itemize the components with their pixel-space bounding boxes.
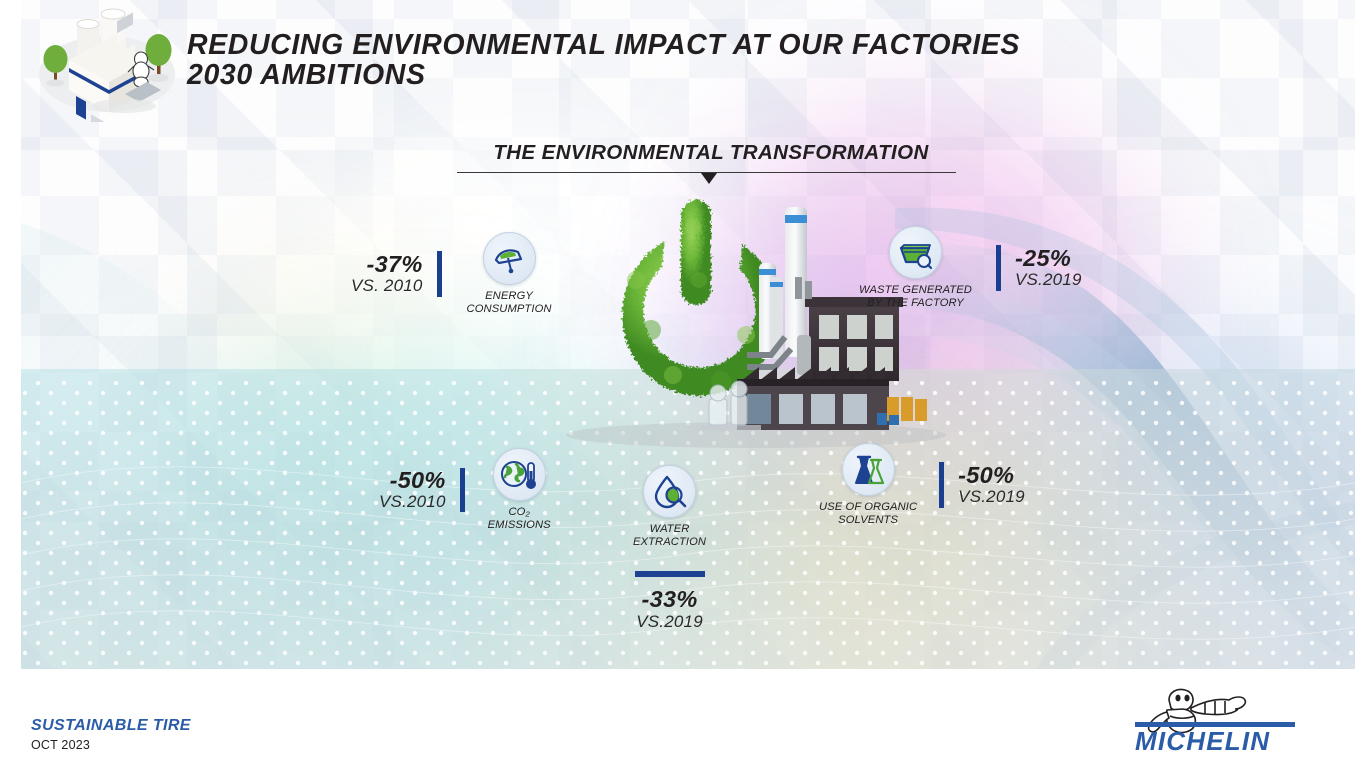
stat-value-group: -33% VS.2019 bbox=[633, 587, 706, 632]
stat-baseline: VS.2019 bbox=[958, 487, 1025, 507]
triangle-down-icon bbox=[701, 173, 717, 184]
globe-thermometer-icon bbox=[493, 448, 546, 501]
stat-label: ENERGY CONSUMPTION bbox=[467, 290, 552, 316]
gauge-speedometer-icon bbox=[483, 232, 536, 285]
stat-divider bbox=[437, 251, 442, 297]
water-droplet-magnifier-icon bbox=[643, 465, 696, 518]
stat-baseline: VS.2019 bbox=[633, 612, 706, 632]
stat-value: -37% bbox=[351, 252, 423, 277]
stat-label: CO₂ EMISSIONS bbox=[488, 506, 551, 532]
michelin-wordmark: MICHELIN bbox=[1135, 726, 1270, 754]
stat-value-group: -50% VS.2019 bbox=[958, 463, 1025, 508]
stat-co2-emissions: -50% VS.2010 CO₂ EMISSIONS bbox=[379, 448, 551, 532]
page-title: REDUCING ENVIRONMENTAL IMPACT AT OUR FAC… bbox=[187, 30, 1237, 91]
stat-value: -50% bbox=[958, 463, 1025, 488]
stat-value: -25% bbox=[1015, 246, 1082, 271]
hero-illustration bbox=[541, 185, 961, 450]
stat-energy-consumption: -37% VS. 2010 ENERGY CONSUMPTION bbox=[351, 232, 552, 316]
footer-title: SUSTAINABLE TIRE bbox=[31, 717, 191, 735]
stat-divider bbox=[939, 462, 944, 508]
section-subtitle: THE ENVIRONMENTAL TRANSFORMATION bbox=[441, 141, 981, 165]
lab-flasks-icon bbox=[842, 443, 895, 496]
stat-value-group: -37% VS. 2010 bbox=[351, 252, 423, 297]
stat-label: WATER EXTRACTION bbox=[633, 523, 706, 549]
stat-label: WASTE GENERATED BY THE FACTORY bbox=[859, 284, 972, 310]
michelin-logo: MICHELIN bbox=[1125, 682, 1305, 754]
stat-divider bbox=[635, 571, 705, 577]
stat-label: USE OF ORGANIC SOLVENTS bbox=[819, 501, 917, 527]
slide-root: REDUCING ENVIRONMENTAL IMPACT AT OUR FAC… bbox=[0, 0, 1367, 768]
waste-skip-container-icon bbox=[889, 226, 942, 279]
factory-illustration-icon bbox=[29, 2, 189, 122]
stat-organic-solvents: USE OF ORGANIC SOLVENTS -50% VS.2019 bbox=[819, 443, 1025, 527]
artwork-panel: REDUCING ENVIRONMENTAL IMPACT AT OUR FAC… bbox=[21, 0, 1355, 669]
stat-divider bbox=[996, 245, 1001, 291]
stat-water-extraction: WATER EXTRACTION -33% VS.2019 bbox=[633, 465, 706, 633]
stat-value-group: -25% VS.2019 bbox=[1015, 246, 1082, 291]
stat-value: -33% bbox=[633, 587, 706, 612]
stat-baseline: VS.2010 bbox=[379, 492, 446, 512]
footer-date: OCT 2023 bbox=[31, 738, 90, 752]
stat-value-group: -50% VS.2010 bbox=[379, 468, 446, 513]
stat-baseline: VS. 2010 bbox=[351, 276, 423, 296]
stat-waste-generated: WASTE GENERATED BY THE FACTORY -25% VS.2… bbox=[859, 226, 1082, 310]
stat-value: -50% bbox=[379, 468, 446, 493]
stat-divider bbox=[460, 468, 465, 512]
stat-baseline: VS.2019 bbox=[1015, 270, 1082, 290]
